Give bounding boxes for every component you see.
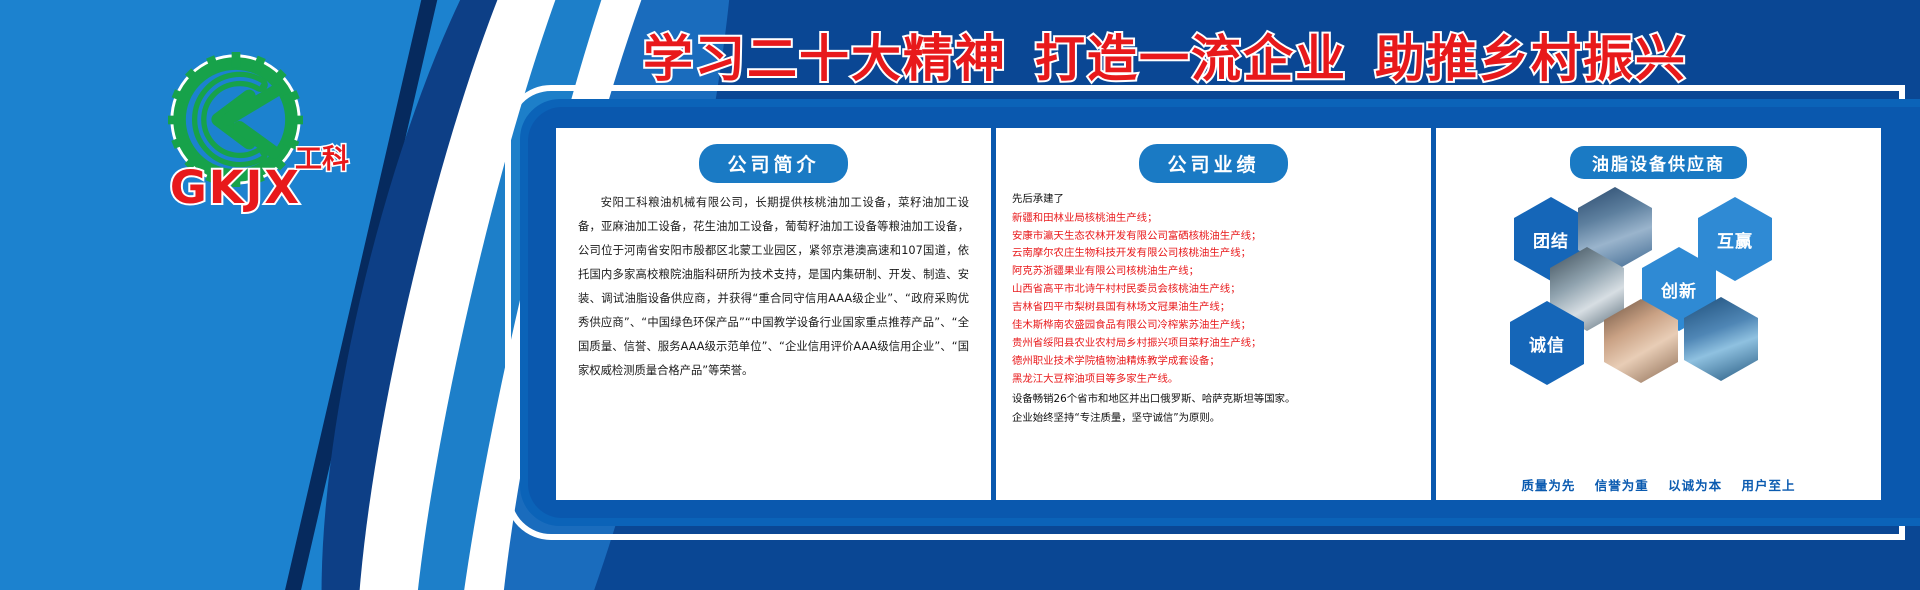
logo-chinese-name: 工科 (295, 137, 349, 176)
achievement-item: 新疆和田林业局核桃油生产线； (1012, 210, 1415, 228)
headline-part-3: 助推乡村振兴 (1375, 30, 1687, 88)
poster-headline: 学习二十大精神打造一流企业助推乡村振兴 (430, 16, 1900, 94)
slogan-part-4: 用户至上 (1742, 478, 1796, 493)
slogan-part-3: 以诚为本 (1668, 478, 1722, 493)
company-logo: 工科 GKJX (128, 52, 343, 227)
achievement-item: 阿克苏浙疆果业有限公司核桃油生产线； (1012, 263, 1415, 281)
supplier-slogan: 质量为先 信誉为重 以诚为本 用户至上 (1436, 475, 1881, 494)
hexagon-cluster: 团结 互赢 创新 诚信 (1452, 189, 1865, 419)
panel-2-title: 公司业绩 (1141, 146, 1285, 181)
headline-part-2: 打造一流企业 (1035, 30, 1347, 88)
achievement-item: 吉林省四平市梨树县国有林场文冠果油生产线； (1012, 299, 1415, 317)
panel-1-header: 公司简介 (572, 146, 975, 181)
achievements-intro: 先后承建了 (1012, 191, 1415, 209)
achievements-footer-1: 设备畅销26个省市和地区并出口俄罗斯、哈萨克斯坦等国家。 (1012, 391, 1415, 409)
achievement-item: 安康市瀛天生态农林开发有限公司富硒核桃油生产线； (1012, 228, 1415, 246)
panel-2-header: 公司业绩 (1012, 146, 1415, 181)
achievement-item: 黑龙江大豆榨油项目等多家生产线。 (1012, 371, 1415, 389)
panel-3-title: 油脂设备供应商 (1570, 146, 1747, 179)
panel-1-body: 安阳工科粮油机械有限公司，长期提供核桃油加工设备，菜籽油加工设备，亚麻油加工设备… (572, 191, 975, 383)
headline-part-1: 学习二十大精神 (643, 30, 1007, 88)
achievement-item: 德州职业技术学院植物油精炼教学成套设备； (1012, 353, 1415, 371)
panel-company-achievements: 公司业绩 先后承建了 新疆和田林业局核桃油生产线；安康市瀛天生态农林开发有限公司… (996, 128, 1436, 500)
panel-3-header: 油脂设备供应商 (1452, 146, 1865, 179)
panel-company-profile: 公司简介 安阳工科粮油机械有限公司，长期提供核桃油加工设备，菜籽油加工设备，亚麻… (556, 128, 996, 500)
poster-canvas: 工科 GKJX 学习二十大精神打造一流企业助推乡村振兴 公司简介 安阳工科粮油机… (0, 0, 1920, 590)
achievement-item: 佳木斯桦南农盛园食品有限公司冷榨紫苏油生产线； (1012, 317, 1415, 335)
slogan-part-1: 质量为先 (1521, 478, 1575, 493)
slogan-part-2: 信誉为重 (1595, 478, 1649, 493)
headline-text: 学习二十大精神打造一流企业助推乡村振兴 (629, 19, 1701, 91)
achievement-item: 山西省高平市北诗午村村民委员会核桃油生产线； (1012, 281, 1415, 299)
achievements-footer-2: 企业始终坚持“专注质量，坚守诚信”为原则。 (1012, 410, 1415, 428)
achievements-list: 新疆和田林业局核桃油生产线；安康市瀛天生态农林开发有限公司富硒核桃油生产线；云南… (1012, 210, 1415, 389)
panel-oil-equipment-supplier: 油脂设备供应商 团结 互赢 创新 诚信 质量为先 信誉为重 以诚为本 用户至上 (1436, 128, 1881, 500)
panel-1-title: 公司简介 (701, 146, 845, 181)
logo-wordmark: 工科 GKJX (128, 161, 343, 214)
content-panels: 公司简介 安阳工科粮油机械有限公司，长期提供核桃油加工设备，菜籽油加工设备，亚麻… (556, 128, 1886, 500)
achievement-item: 贵州省绥阳县农业农村局乡村振兴项目菜籽油生产线； (1012, 335, 1415, 353)
achievement-item: 云南摩尔农庄生物科技开发有限公司核桃油生产线； (1012, 245, 1415, 263)
